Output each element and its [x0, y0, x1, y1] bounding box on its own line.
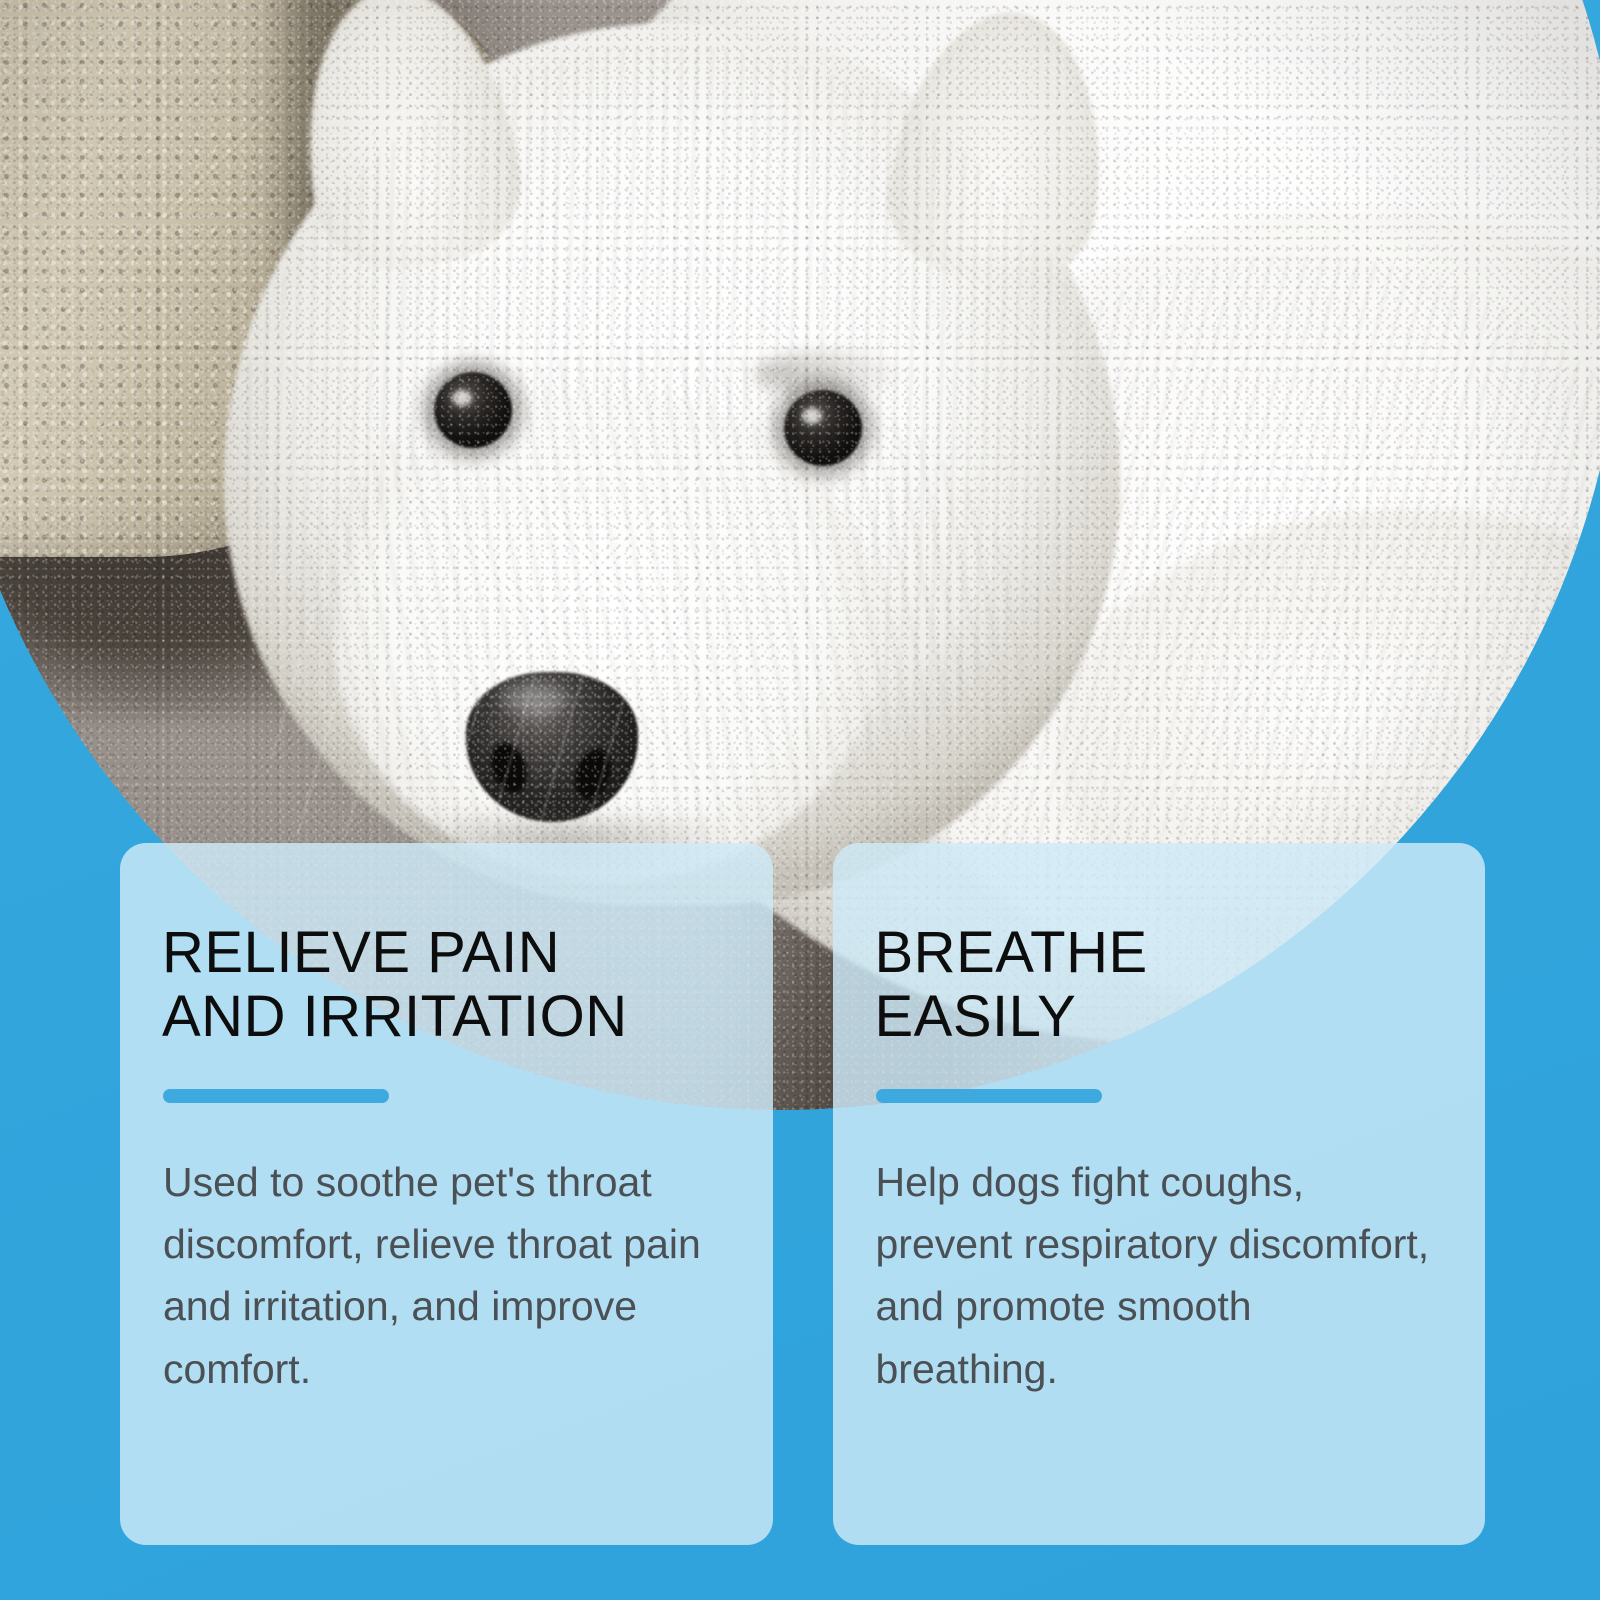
benefit-card-title: RELIEVE PAIN AND IRRITATION [162, 921, 729, 1049]
benefit-card-accent-bar [876, 1089, 1102, 1103]
benefit-card-relieve-pain: RELIEVE PAIN AND IRRITATION Used to soot… [120, 843, 773, 1545]
benefit-card-accent-bar [163, 1089, 389, 1103]
benefit-card-body: Help dogs fight coughs, prevent respirat… [876, 1151, 1436, 1400]
benefit-cards: RELIEVE PAIN AND IRRITATION Used to soot… [120, 843, 1485, 1545]
benefit-card-breathe-easily: BREATHE EASILY Help dogs fight coughs, p… [833, 843, 1486, 1545]
benefit-card-title: BREATHE EASILY [875, 921, 1442, 1049]
benefit-card-body: Used to soothe pet's throat discomfort, … [163, 1151, 723, 1400]
poster-root: RELIEVE PAIN AND IRRITATION Used to soot… [0, 0, 1600, 1600]
